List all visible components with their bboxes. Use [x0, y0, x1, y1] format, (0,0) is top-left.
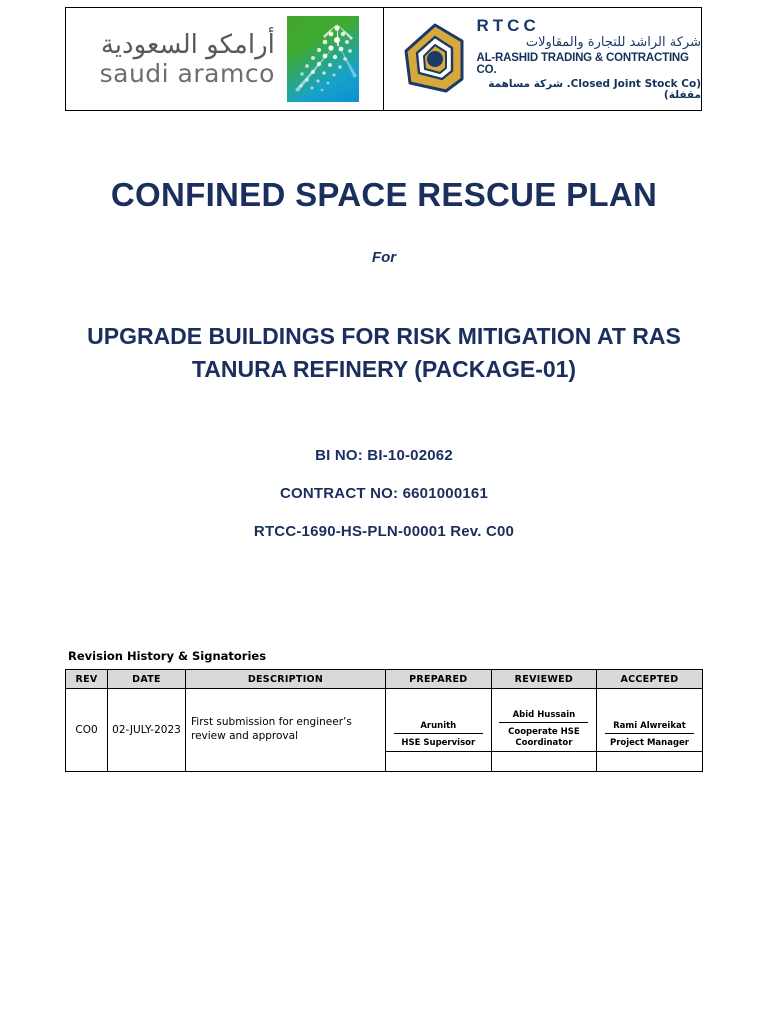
- reference-numbers: BI NO: BI-10-02062 CONTRACT NO: 66010001…: [0, 447, 768, 561]
- cell-reviewed: Abid Hussain Cooperate HSE Coordinator: [491, 689, 597, 772]
- revision-history-table: REV DATE DESCRIPTION PREPARED REVIEWED A…: [65, 669, 703, 772]
- saudi-aramco-logo-cell: أرامكو السعودية saudi aramco: [66, 8, 384, 110]
- aramco-latin-text: saudi aramco: [100, 61, 275, 86]
- cell-date: 02-JULY-2023: [108, 689, 186, 772]
- accepted-signatory-role: Project Manager: [610, 734, 689, 749]
- rtcc-acronym: RTCC: [477, 17, 702, 35]
- page-title: CONFINED SPACE RESCUE PLAN: [0, 176, 768, 214]
- project-title: UPGRADE BUILDINGS FOR RISK MITIGATION AT…: [70, 320, 698, 387]
- aramco-energy-burst-icon: [287, 16, 359, 102]
- aramco-wordmark: أرامكو السعودية saudi aramco: [100, 32, 275, 86]
- column-header-reviewed: REVIEWED: [491, 670, 597, 689]
- reviewed-signatory-role: Cooperate HSE Coordinator: [496, 723, 593, 749]
- prepared-signatory-role: HSE Supervisor: [401, 734, 475, 749]
- rtcc-legal-form: (Closed Joint Stock Co. شركة مساهمة مقفل…: [477, 79, 702, 102]
- rtcc-arabic-name: شركة الراشد للتجارة والمقاولات: [477, 36, 702, 50]
- column-header-prepared: PREPARED: [386, 670, 492, 689]
- cell-rev: CO0: [66, 689, 108, 772]
- cell-prepared: Arunith HSE Supervisor: [386, 689, 492, 772]
- rtcc-logo: RTCC شركة الراشد للتجارة والمقاولات AL-R…: [402, 17, 702, 102]
- column-header-date: DATE: [108, 670, 186, 689]
- reviewed-signature-strip: [492, 751, 597, 771]
- prepared-signatory-name: Arunith: [394, 721, 483, 734]
- rtcc-emblem-icon: [402, 21, 468, 97]
- table-row: CO0 02-JULY-2023 First submission for en…: [66, 689, 703, 772]
- cell-description: First submission for engineer’s review a…: [186, 689, 386, 772]
- bi-number: BI NO: BI-10-02062: [0, 447, 768, 464]
- revision-history-heading: Revision History & Signatories: [68, 649, 266, 663]
- column-header-description: DESCRIPTION: [186, 670, 386, 689]
- reviewed-signatory-name: Abid Hussain: [499, 710, 588, 723]
- saudi-aramco-logo: أرامكو السعودية saudi aramco: [100, 16, 359, 102]
- aramco-arabic-text: أرامكو السعودية: [101, 32, 275, 58]
- rtcc-english-name: AL-RASHID TRADING & CONTRACTING CO.: [477, 52, 702, 77]
- column-header-rev: REV: [66, 670, 108, 689]
- accepted-signatory-name: Rami Alwreikat: [605, 721, 694, 734]
- cell-accepted: Rami Alwreikat Project Manager: [597, 689, 703, 772]
- rtcc-wordmark: RTCC شركة الراشد للتجارة والمقاولات AL-R…: [477, 17, 702, 102]
- for-label: For: [0, 249, 768, 266]
- accepted-signature-strip: [597, 751, 702, 771]
- contract-number: CONTRACT NO: 6601000161: [0, 485, 768, 502]
- prepared-signature-strip: [386, 751, 491, 771]
- header-logo-bar: أرامكو السعودية saudi aramco: [65, 7, 702, 111]
- column-header-accepted: ACCEPTED: [597, 670, 703, 689]
- rtcc-logo-cell: RTCC شركة الراشد للتجارة والمقاولات AL-R…: [384, 8, 702, 110]
- table-header-row: REV DATE DESCRIPTION PREPARED REVIEWED A…: [66, 670, 703, 689]
- document-number: RTCC-1690-HS-PLN-00001 Rev. C00: [0, 523, 768, 540]
